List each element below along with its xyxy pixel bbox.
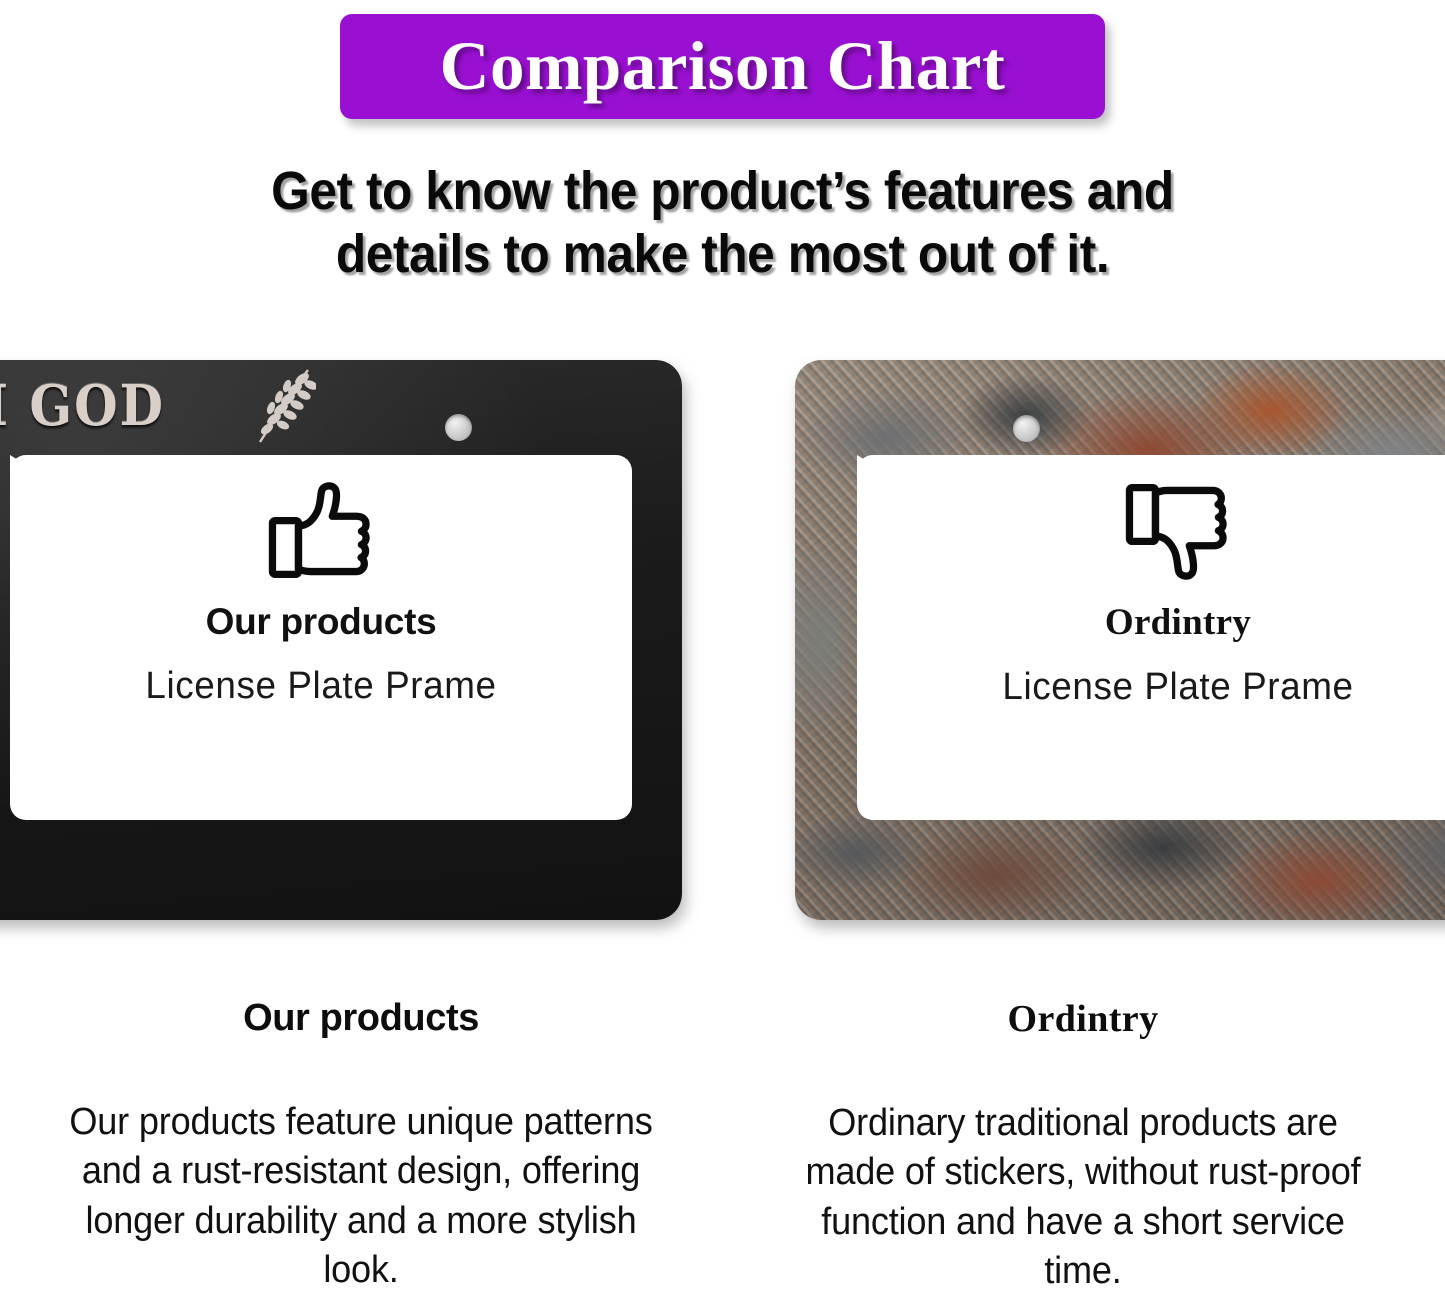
column-body-ordinary: Ordinary traditional products are made o… xyxy=(779,1099,1387,1297)
product-frames: WITH GOD xyxy=(0,360,1445,920)
left-frame-heading: Our products xyxy=(206,601,437,643)
left-product-frame: WITH GOD xyxy=(0,360,682,920)
thumbs-down-icon xyxy=(1122,479,1234,583)
left-frame-subheading: License Plate Prame xyxy=(145,665,496,708)
thumbs-up-icon xyxy=(265,479,377,583)
frame-top-rail-text: WITH GOD xyxy=(0,372,165,438)
page-title: Comparison Chart xyxy=(440,27,1006,106)
subtitle-line-1: Get to know the product’s features and xyxy=(58,160,1387,223)
right-frame-heading: Ordintry xyxy=(1105,601,1251,644)
black-license-plate-frame: WITH GOD xyxy=(0,360,682,920)
right-frame-content: Ordintry License Plate Prame xyxy=(857,455,1445,820)
right-frame-subheading: License Plate Prame xyxy=(1002,666,1353,709)
subtitle-line-2: details to make the most out of it. xyxy=(58,223,1387,286)
mounting-hole-icon xyxy=(1013,415,1040,442)
left-frame-content: Our products License Plate Prame xyxy=(10,455,632,820)
comparison-columns: Our products Our products feature unique… xyxy=(0,985,1445,1314)
banner-row: Comparison Chart xyxy=(0,14,1445,119)
rusty-license-plate-frame: Ordintry License Plate Prame xyxy=(795,360,1445,920)
column-heading-ours: Our products xyxy=(243,997,479,1040)
comparison-column-ours: Our products Our products feature unique… xyxy=(0,985,722,1314)
right-product-frame: Ordintry License Plate Prame xyxy=(795,360,1445,920)
comparison-chart-banner: Comparison Chart xyxy=(340,14,1105,119)
comparison-column-ordinary: Ordintry Ordinary traditional products a… xyxy=(722,985,1444,1314)
mounting-hole-icon xyxy=(445,414,472,441)
column-body-ours: Our products feature unique patterns and… xyxy=(57,1098,665,1296)
laurel-sprig-icon xyxy=(238,366,316,454)
subtitle: Get to know the product’s features and d… xyxy=(58,160,1387,285)
column-heading-ordinary: Ordintry xyxy=(1008,997,1159,1041)
